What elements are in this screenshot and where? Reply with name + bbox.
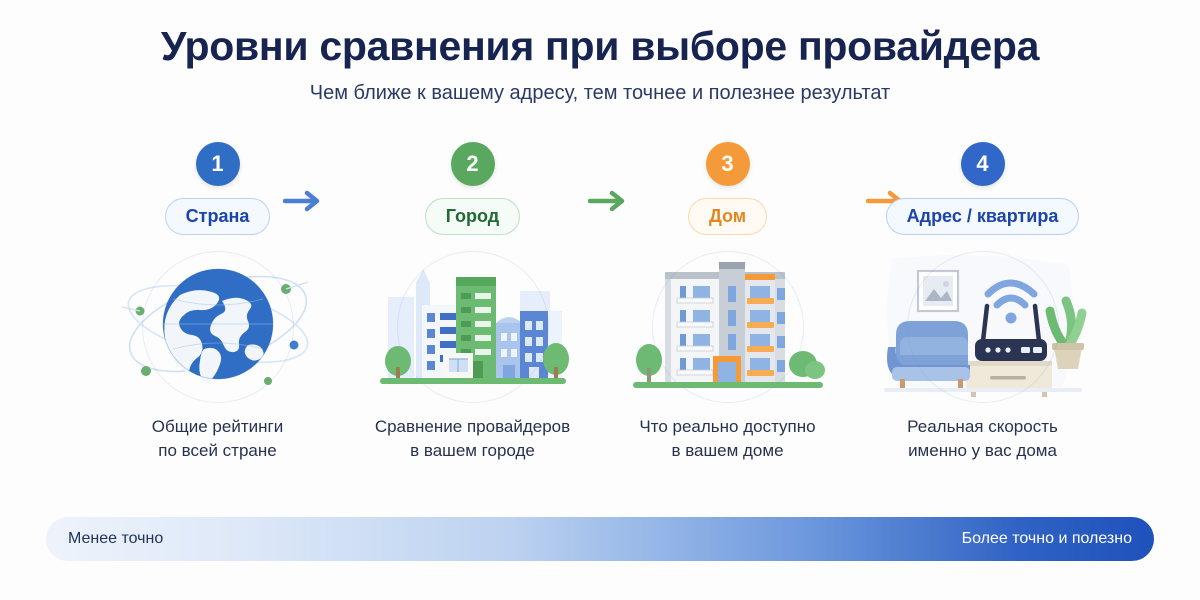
step-caption-house: Что реально доступно в вашем доме (639, 415, 815, 463)
step-badge-3: 3 (706, 142, 750, 186)
page-title: Уровни сравнения при выборе провайдера (0, 24, 1200, 70)
scale-right-label: Более точно и полезно (962, 530, 1132, 548)
infographic-page: Уровни сравнения при выборе провайдера Ч… (0, 0, 1200, 600)
steps-row: 1 Страна (0, 142, 1200, 492)
page-subtitle: Чем ближе к вашему адресу, тем точнее и … (0, 82, 1200, 105)
step-house[interactable]: 3 Дом (600, 142, 855, 463)
scale-left-label: Менее точно (68, 530, 163, 548)
step-address[interactable]: 4 Адрес / квартира (855, 142, 1110, 463)
step-country[interactable]: 1 Страна (90, 142, 345, 463)
step-label-city[interactable]: Город (425, 198, 520, 235)
step-caption-city: Сравнение провайдеров в вашем городе (375, 415, 570, 463)
living-room-router-illustration (878, 249, 1088, 399)
step-caption-address: Реальная скорость именно у вас дома (907, 415, 1058, 463)
city-illustration (368, 249, 578, 399)
step-label-house[interactable]: Дом (688, 198, 767, 235)
step-city[interactable]: 2 Город (345, 142, 600, 463)
step-badge-1: 1 (196, 142, 240, 186)
globe-illustration (113, 249, 323, 399)
precision-scale-bar: Менее точно Более точно и полезно (46, 517, 1154, 561)
step-label-address[interactable]: Адрес / квартира (886, 198, 1080, 235)
step-caption-country: Общие рейтинги по всей стране (152, 415, 283, 463)
step-badge-2: 2 (451, 142, 495, 186)
apartment-building-illustration (623, 249, 833, 399)
step-badge-4: 4 (961, 142, 1005, 186)
header: Уровни сравнения при выборе провайдера Ч… (0, 0, 1200, 105)
step-label-country[interactable]: Страна (165, 198, 271, 235)
